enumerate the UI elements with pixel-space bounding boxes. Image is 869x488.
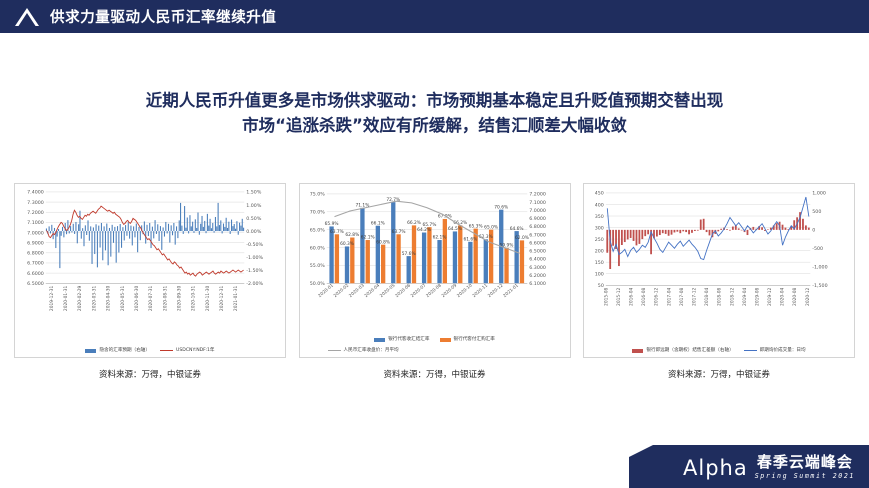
svg-text:62.1%: 62.1%	[360, 235, 374, 241]
chart-3-bar-series	[606, 212, 809, 269]
svg-text:50.0%: 50.0%	[309, 281, 325, 287]
chart-2-bar-series	[329, 202, 524, 283]
svg-text:2015-08: 2015-08	[603, 288, 609, 306]
svg-text:7.4000: 7.4000	[27, 190, 44, 196]
chart-3-legend-item-bar: 银行即远期（含期权）结售汇差额（右轴）	[632, 347, 733, 354]
svg-text:2017-04: 2017-04	[666, 288, 672, 306]
svg-text:-1,500: -1,500	[812, 283, 827, 289]
svg-text:100: 100	[595, 271, 604, 277]
svg-text:63.7%: 63.7%	[329, 229, 343, 235]
svg-text:7.2000: 7.2000	[529, 192, 546, 198]
svg-text:6.5000: 6.5000	[27, 281, 44, 287]
svg-text:2017-12: 2017-12	[691, 288, 697, 306]
svg-text:2018-08: 2018-08	[717, 288, 723, 306]
svg-text:65.9%: 65.9%	[324, 221, 338, 227]
svg-text:2018-12: 2018-12	[729, 288, 735, 306]
svg-text:2020-08: 2020-08	[424, 283, 442, 299]
chart-3-canvas: 45040035030025020015010050 1,0005000-500…	[584, 184, 854, 358]
svg-text:2020-11: 2020-11	[471, 283, 489, 299]
svg-text:64.2%: 64.2%	[417, 227, 431, 233]
svg-text:2020-09-30: 2020-09-30	[176, 286, 182, 312]
source-note-chart-1: 资料来源：万得，中银证券	[14, 368, 286, 384]
source-note-chart-3: 资料来源：万得，中银证券	[583, 368, 855, 384]
svg-text:200: 200	[595, 248, 604, 254]
chart-2-legend-item-line: 人民币汇率收盘价：月平均	[300, 347, 570, 354]
chart-3-y-axis-left: 45040035030025020015010050	[595, 191, 604, 289]
svg-text:7.1000: 7.1000	[529, 200, 546, 206]
svg-text:0.00%: 0.00%	[246, 229, 262, 235]
svg-text:6.7000: 6.7000	[529, 232, 546, 238]
svg-text:6.6000: 6.6000	[27, 271, 44, 277]
svg-text:2019-04: 2019-04	[742, 288, 748, 306]
svg-text:2020-03-31: 2020-03-31	[91, 286, 97, 312]
svg-text:55.0%: 55.0%	[309, 263, 325, 269]
svg-text:63.7%: 63.7%	[391, 229, 405, 235]
svg-text:1.50%: 1.50%	[246, 190, 262, 196]
chart-3-legend: 银行即远期（含期权）结售汇差额（右轴） 即期询价成交量：日均	[584, 347, 854, 354]
svg-text:2019-12: 2019-12	[767, 288, 773, 306]
page-footer: Alpha 春季云端峰会 Spring Summit 2021	[0, 441, 869, 488]
summit-name-cn: 春季云端峰会	[757, 451, 853, 472]
chart-3-y-axis-right: 1,0005000-500-1,000-1,500	[812, 191, 827, 289]
svg-text:57.6%: 57.6%	[401, 251, 415, 257]
svg-text:2020-11-30: 2020-11-30	[205, 286, 211, 312]
chart-3-legend-label-bar: 银行即远期（含期权）结售汇差额（右轴）	[646, 347, 733, 354]
svg-text:2020-06: 2020-06	[394, 283, 412, 299]
svg-text:6.1000: 6.1000	[529, 281, 546, 287]
svg-text:60.3%: 60.3%	[340, 241, 354, 247]
svg-text:7.1000: 7.1000	[27, 220, 44, 226]
svg-text:2016-12: 2016-12	[654, 288, 660, 306]
svg-text:-1.00%: -1.00%	[246, 255, 263, 261]
chart-2-legend-label-blue: 银行代客收汇结汇率	[388, 336, 429, 343]
svg-text:2016-04: 2016-04	[629, 288, 635, 306]
svg-text:2020-04-30: 2020-04-30	[106, 286, 112, 312]
svg-text:150: 150	[595, 260, 604, 266]
svg-text:2020-02-29: 2020-02-29	[77, 286, 83, 312]
svg-text:450: 450	[595, 191, 604, 197]
svg-text:2020-05-31: 2020-05-31	[120, 286, 126, 312]
chart-2-legend-item-blue: 银行代客收汇结汇率	[374, 336, 429, 343]
chart-3-line-series	[607, 197, 809, 260]
svg-text:2018-04: 2018-04	[704, 288, 710, 306]
svg-text:66.1%: 66.1%	[370, 220, 384, 226]
svg-text:6.8000: 6.8000	[27, 251, 44, 257]
chart-1-legend-item-bar: 隐含的汇率预期（右轴）	[85, 347, 150, 354]
chart-3-x-axis: 2015-082015-122016-042016-082016-122017-…	[603, 288, 810, 306]
svg-text:7.2000: 7.2000	[27, 210, 44, 216]
chart-2-y-axis-left: 75.0%70.0%65.0%60.0%55.0%50.0%	[309, 192, 325, 287]
chart-2-legend-label-orange: 银行代客付汇购汇率	[454, 336, 495, 343]
svg-text:60.8%: 60.8%	[376, 239, 390, 245]
svg-text:64.6%: 64.6%	[509, 226, 523, 232]
svg-text:2020-12-31: 2020-12-31	[219, 286, 225, 312]
svg-text:50: 50	[598, 283, 604, 289]
svg-text:6.8000: 6.8000	[529, 224, 546, 230]
charts-row: 7.40007.30007.20007.10007.00006.90006.80…	[0, 183, 869, 358]
chart-1-legend: 隐含的汇率预期（右轴） USDCNY:NDF:1年	[15, 347, 285, 354]
svg-text:62.1%: 62.1%	[432, 235, 446, 241]
svg-text:2020-12: 2020-12	[805, 288, 811, 306]
chart-3-settlement-balance: 45040035030025020015010050 1,0005000-500…	[583, 183, 855, 358]
bar-swatch-icon	[85, 349, 96, 353]
svg-text:2020-04: 2020-04	[363, 283, 381, 299]
chart-2-legend-item-orange: 银行代客付汇购汇率	[440, 336, 495, 343]
chart-2-canvas: 75.0%70.0%65.0%60.0%55.0%50.0% 7.20007.1…	[300, 184, 570, 358]
source-note-chart-2: 资料来源：万得，中银证券	[299, 368, 571, 384]
svg-text:2020-03: 2020-03	[347, 283, 365, 299]
svg-text:2020-01-31: 2020-01-31	[63, 286, 69, 312]
svg-text:2020-09: 2020-09	[440, 283, 458, 299]
chart-1-gridlines	[46, 192, 245, 283]
svg-text:7.0000: 7.0000	[27, 230, 44, 236]
chart-1-x-axis: 2019-12-312020-01-312020-02-292020-03-31…	[49, 286, 239, 312]
svg-text:2020-08-31: 2020-08-31	[162, 286, 168, 312]
svg-text:6.5000: 6.5000	[529, 249, 546, 255]
svg-text:6.7000: 6.7000	[27, 261, 44, 267]
chart-2-x-axis: 2020-012020-022020-032020-042020-052020-…	[317, 283, 520, 299]
svg-text:64.5%: 64.5%	[448, 226, 462, 232]
chart-2-data-labels: 65.9%60.3%71.1%66.1%72.7%57.6%64.2%62.1%…	[324, 197, 528, 257]
svg-text:65.7%: 65.7%	[422, 222, 436, 228]
svg-text:65.3%: 65.3%	[468, 223, 482, 229]
svg-text:2021-01-31: 2021-01-31	[233, 286, 239, 312]
page-header: 供求力量驱动人民币汇率继续升值	[0, 0, 869, 33]
chart-1-canvas: 7.40007.30007.20007.10007.00006.90006.80…	[15, 184, 285, 358]
chart-1-y-axis-right: 1.50%1.00%0.50%0.00%-0.50%-1.00%-1.50%-2…	[246, 190, 263, 287]
svg-text:7.3000: 7.3000	[27, 200, 44, 206]
line-swatch-icon	[744, 350, 757, 352]
svg-text:300: 300	[595, 225, 604, 231]
svg-text:6.3000: 6.3000	[529, 265, 546, 271]
chart-2-legend: 银行代客收汇结汇率 银行代客付汇购汇率 人民币汇率收盘价：月平均	[300, 336, 570, 354]
chart-1-legend-item-line: USDCNY:NDF:1年	[160, 347, 215, 354]
svg-text:2016-08: 2016-08	[641, 288, 647, 306]
svg-text:1.00%: 1.00%	[246, 203, 262, 209]
svg-text:7.0000: 7.0000	[529, 208, 546, 214]
svg-text:2020-07-31: 2020-07-31	[148, 286, 154, 312]
svg-text:-500: -500	[812, 246, 823, 252]
bar-swatch-icon	[440, 338, 451, 342]
page-title-line-2: 市场“追涨杀跌”效应有所缓解，结售汇顺差大幅收敛	[0, 113, 869, 138]
chart-3-legend-item-line: 即期询价成交量：日均	[744, 347, 806, 354]
svg-text:65.0%: 65.0%	[309, 227, 325, 233]
svg-text:-1.50%: -1.50%	[246, 268, 263, 274]
svg-text:2021-01: 2021-01	[502, 283, 520, 299]
svg-text:2017-08: 2017-08	[679, 288, 685, 306]
chart-3-legend-label-line: 即期询价成交量：日均	[760, 347, 806, 354]
summit-name-block: 春季云端峰会 Spring Summit 2021	[755, 451, 855, 480]
svg-text:75.0%: 75.0%	[309, 192, 325, 198]
svg-text:2020-02: 2020-02	[332, 283, 350, 299]
svg-text:2020-08: 2020-08	[792, 288, 798, 306]
page-title-line-1: 近期人民币升值更多是市场供求驱动：市场预期基本稳定且升贬值预期交替出现	[0, 88, 869, 113]
svg-text:2020-10: 2020-10	[455, 283, 473, 299]
footer-brand-lockup: Alpha 春季云端峰会 Spring Summit 2021	[683, 451, 855, 480]
svg-text:62.0%: 62.0%	[515, 235, 529, 241]
header-title: 供求力量驱动人民币汇率继续升值	[50, 6, 277, 27]
svg-text:60.0%: 60.0%	[309, 245, 325, 251]
chart-1-y-axis-left: 7.40007.30007.20007.10007.00006.90006.80…	[27, 190, 44, 287]
svg-text:6.4000: 6.4000	[529, 257, 546, 263]
bar-swatch-icon	[374, 338, 385, 342]
chart-1-legend-label-bar: 隐含的汇率预期（右轴）	[99, 347, 150, 354]
chart-2-y-axis-right: 7.20007.10007.00006.90006.80006.70006.60…	[529, 192, 546, 287]
line-swatch-icon	[328, 350, 341, 352]
svg-text:2015-12: 2015-12	[616, 288, 622, 306]
svg-text:6.9000: 6.9000	[529, 216, 546, 222]
svg-text:2020-04: 2020-04	[780, 288, 786, 306]
svg-text:62.8%: 62.8%	[345, 232, 359, 238]
svg-text:6.9000: 6.9000	[27, 240, 44, 246]
svg-text:400: 400	[595, 202, 604, 208]
svg-text:70.0%: 70.0%	[309, 210, 325, 216]
svg-text:350: 350	[595, 214, 604, 220]
svg-text:66.2%: 66.2%	[407, 220, 421, 226]
summit-name-en: Spring Summit 2021	[755, 472, 855, 480]
svg-text:65.0%: 65.0%	[484, 224, 498, 230]
chart-2-legend-label-line: 人民币汇率收盘价：月平均	[344, 347, 399, 354]
mountain-triangle-logo	[10, 5, 44, 29]
source-notes-row: 资料来源：万得，中银证券 资料来源：万得，中银证券 资料来源：万得，中银证券	[0, 368, 869, 384]
line-swatch-icon	[160, 350, 173, 352]
svg-text:2020-05: 2020-05	[378, 283, 396, 299]
svg-text:2020-12: 2020-12	[486, 283, 504, 299]
svg-text:6.2000: 6.2000	[529, 273, 546, 279]
svg-text:70.6%: 70.6%	[494, 204, 508, 210]
chart-1-implied-expectation: 7.40007.30007.20007.10007.00006.90006.80…	[14, 183, 286, 358]
svg-text:500: 500	[812, 209, 821, 215]
page-title: 近期人民币升值更多是市场供求驱动：市场预期基本稳定且升贬值预期交替出现 市场“追…	[0, 88, 869, 138]
svg-text:6.6000: 6.6000	[529, 240, 546, 246]
chart-2-settlement-rates: 75.0%70.0%65.0%60.0%55.0%50.0% 7.20007.1…	[299, 183, 571, 358]
svg-text:61.6%: 61.6%	[463, 237, 477, 243]
chart-1-legend-label-line: USDCNY:NDF:1年	[176, 347, 215, 354]
svg-text:2020-07: 2020-07	[409, 283, 427, 299]
svg-text:59.9%: 59.9%	[499, 243, 513, 249]
svg-text:-1,000: -1,000	[812, 265, 827, 271]
svg-text:0.50%: 0.50%	[246, 216, 262, 222]
alpha-wordmark: Alpha	[683, 456, 748, 480]
chart-1-line-series	[46, 206, 243, 276]
svg-text:250: 250	[595, 237, 604, 243]
bar-swatch-icon	[632, 349, 643, 353]
svg-text:-0.50%: -0.50%	[246, 242, 263, 248]
svg-text:2020-10-31: 2020-10-31	[191, 286, 197, 312]
svg-text:0: 0	[812, 228, 815, 234]
svg-text:2019-08: 2019-08	[754, 288, 760, 306]
svg-text:-2.00%: -2.00%	[246, 281, 263, 287]
svg-text:1,000: 1,000	[812, 191, 826, 197]
svg-text:2019-12-31: 2019-12-31	[49, 286, 55, 312]
svg-text:2020-06-30: 2020-06-30	[134, 286, 140, 312]
